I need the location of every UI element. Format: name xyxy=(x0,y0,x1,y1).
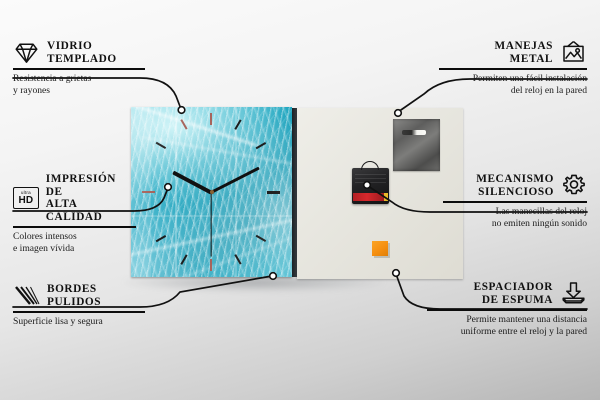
callout-bordes-pulidos: BORDES PULIDOS Superficie lisa y segura xyxy=(13,283,145,328)
diamond-icon xyxy=(13,41,40,65)
callout-manejas-metal: MANEJAS METAL Permiten una fácil instala… xyxy=(439,40,587,97)
callout-rule xyxy=(443,201,587,202)
callout-title: MANEJAS METAL xyxy=(495,40,553,65)
callout-subtitle: Permite mantener una distancia uniforme … xyxy=(427,314,587,338)
callout-rule xyxy=(427,309,587,310)
callout-title: ESPACIADOR DE ESPUMA xyxy=(474,281,553,306)
callout-subtitle: Resistencia a grietas y rayones xyxy=(13,73,145,97)
hanging-picture-frame-icon xyxy=(560,40,587,65)
connector-dot-manejas-metal xyxy=(395,110,402,117)
ultra-hd-large-text: HD xyxy=(18,196,33,206)
callout-vidrio-templado: VIDRIO TEMPLADO Resistencia a grietas y … xyxy=(13,40,145,97)
callout-rule xyxy=(439,68,587,69)
callout-rule xyxy=(13,226,136,227)
connector-dot-vidrio-templado xyxy=(178,107,185,114)
callout-impresion-alta-calidad: ultra HD IMPRESIÓN DE ALTA CALIDAD Color… xyxy=(13,173,136,255)
callout-title: IMPRESIÓN DE ALTA CALIDAD xyxy=(46,173,136,223)
callout-title: VIDRIO TEMPLADO xyxy=(47,40,117,65)
diagonal-stripes-icon xyxy=(13,285,40,307)
infographic-canvas: VIDRIO TEMPLADO Resistencia a grietas y … xyxy=(0,0,600,400)
callout-subtitle: Superficie lisa y segura xyxy=(13,316,145,328)
callout-rule xyxy=(13,311,145,312)
callout-title: BORDES PULIDOS xyxy=(47,283,101,308)
gear-icon xyxy=(561,173,587,198)
callout-subtitle: Las manecillas del reloj no emiten ningú… xyxy=(443,206,587,230)
callout-mecanismo-silencioso: MECANISMO SILENCIOSO Las manecillas del … xyxy=(443,173,587,230)
callout-rule xyxy=(13,68,145,69)
callout-espaciador-espuma: ESPACIADOR DE ESPUMA Permite mantener un… xyxy=(427,281,587,338)
connector-dot-bordes-pulidos xyxy=(270,273,277,280)
ultra-hd-badge-icon: ultra HD xyxy=(13,187,39,209)
connector-dot-espaciador xyxy=(393,270,400,277)
press-down-arrow-pad-icon xyxy=(560,281,587,306)
callout-subtitle: Colores intensos e imagen vívida xyxy=(13,231,136,255)
connector-dot-mecanismo xyxy=(364,182,371,189)
callout-title: MECANISMO SILENCIOSO xyxy=(476,173,554,198)
callout-subtitle: Permiten una fácil instalación del reloj… xyxy=(439,73,587,97)
connector-dot-impresion xyxy=(165,184,172,191)
